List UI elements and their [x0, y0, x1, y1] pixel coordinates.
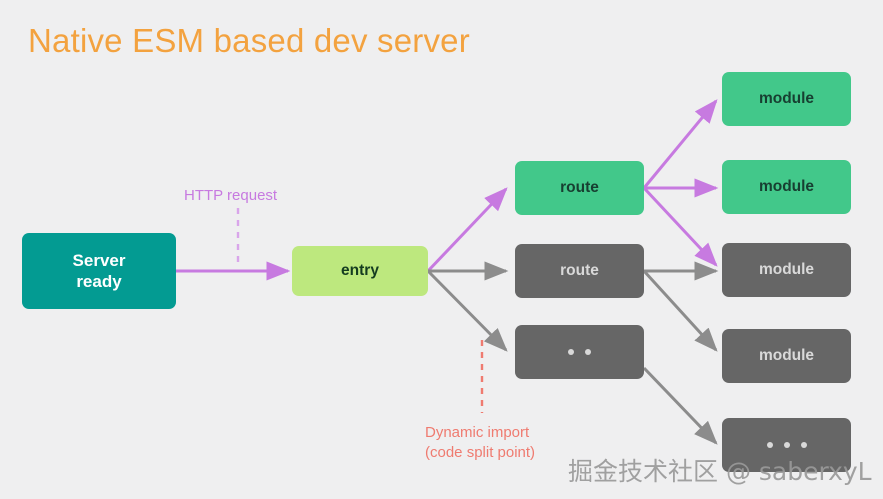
node-entry-label: entry — [341, 261, 379, 280]
node-module-2[interactable]: module — [722, 160, 851, 214]
label-dynamic-import-line1: Dynamic import — [425, 424, 529, 441]
node-server-ready-label-line2: ready — [76, 272, 121, 291]
connector-route-to-module-3 — [644, 188, 716, 265]
watermark: 掘金技术社区 @ saberxyL — [568, 452, 872, 488]
node-module-1-label: module — [759, 89, 814, 108]
node-module-4[interactable]: module — [722, 329, 851, 383]
node-route-inactive[interactable]: route — [515, 244, 644, 298]
node-module-2-label: module — [759, 177, 814, 196]
node-server-ready[interactable]: Server ready — [22, 233, 176, 309]
label-dynamic-import-line2: (code split point) — [425, 444, 535, 461]
node-entry[interactable]: entry — [292, 246, 428, 296]
label-dynamic-import: Dynamic import (code split point) — [425, 423, 535, 464]
two-dots-icon — [568, 349, 591, 355]
node-module-1[interactable]: module — [722, 72, 851, 126]
label-http-request: HTTP request — [184, 186, 277, 206]
node-route-inactive-label: route — [560, 261, 599, 280]
node-module-3[interactable]: module — [722, 243, 851, 297]
connector-route-inactive-to-module-4 — [644, 271, 716, 350]
node-route-active-label: route — [560, 178, 599, 197]
page-title: Native ESM based dev server — [28, 22, 470, 60]
connector-entry-to-route-active — [428, 189, 506, 271]
node-module-4-label: module — [759, 346, 814, 365]
diagram-canvas: Native ESM based dev server — [0, 0, 883, 499]
connector-placeholder-to-module-placeholder — [644, 368, 716, 443]
connector-entry-to-route-placeholder — [428, 271, 506, 350]
connector-route-to-module-1 — [644, 101, 716, 188]
node-route-active[interactable]: route — [515, 161, 644, 215]
node-route-placeholder[interactable] — [515, 325, 644, 379]
node-module-3-label: module — [759, 260, 814, 279]
three-dots-icon — [767, 442, 807, 448]
node-server-ready-label-line1: Server — [73, 251, 126, 270]
